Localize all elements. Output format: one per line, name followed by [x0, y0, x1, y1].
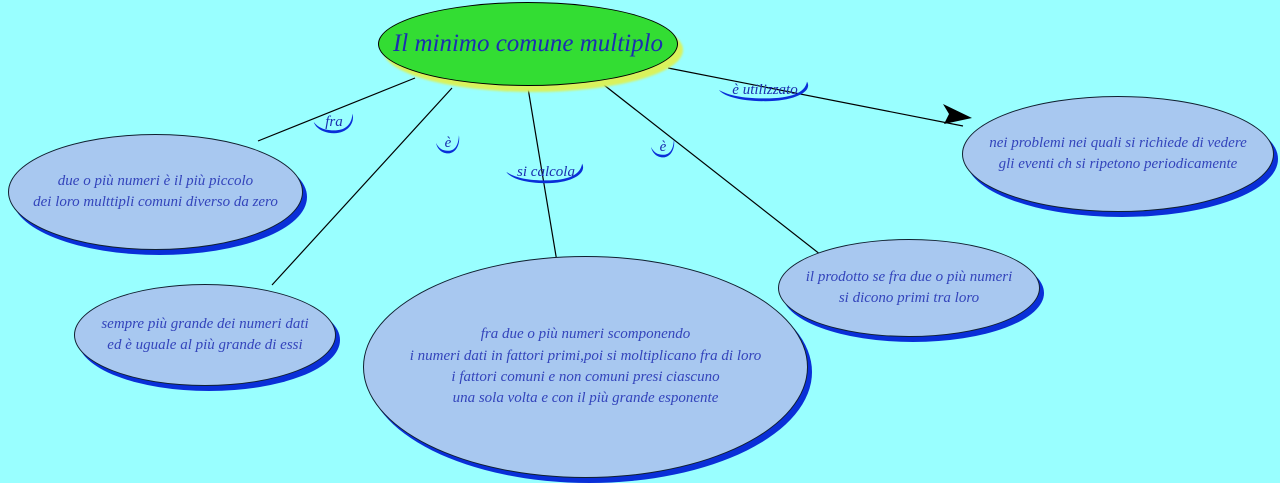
node-prodotto[interactable]: il prodotto se fra due o più numeri si d…	[778, 239, 1040, 337]
node-prodotto-label: il prodotto se fra due o più numeri si d…	[796, 267, 1023, 310]
label-e-2[interactable]: è	[650, 134, 676, 160]
root-to-problemi	[668, 68, 963, 126]
label-fra-text: fra	[325, 114, 343, 131]
label-si-calcola-text: si calcola	[517, 164, 575, 181]
node-calcolo[interactable]: fra due o più numeri scomponendo i numer…	[363, 256, 808, 478]
label-si-calcola[interactable]: si calcola	[503, 158, 589, 186]
node-definizione-label: due o più numeri è il più piccolo dei lo…	[23, 171, 288, 214]
root-to-prodotto	[604, 85, 830, 262]
label-e-1[interactable]: è	[435, 130, 461, 156]
label-fra[interactable]: fra	[312, 108, 356, 136]
root-node[interactable]: Il minimo comune multiplo	[378, 2, 678, 86]
root-node-label: Il minimo comune multiplo	[383, 26, 673, 62]
label-e-utilizzato[interactable]: è utilizzato	[715, 76, 815, 104]
node-calcolo-label: fra due o più numeri scomponendo i numer…	[400, 324, 772, 409]
node-problemi-label: nei problemi nei quali si richiede di ve…	[979, 133, 1257, 176]
node-problemi[interactable]: nei problemi nei quali si richiede di ve…	[962, 96, 1274, 212]
label-e-2-text: è	[660, 139, 667, 156]
node-grandezza-label: sempre più grande dei numeri dati ed è u…	[91, 314, 318, 357]
node-grandezza[interactable]: sempre più grande dei numeri dati ed è u…	[74, 284, 336, 386]
node-definizione[interactable]: due o più numeri è il più piccolo dei lo…	[8, 134, 303, 250]
label-e-1-text: è	[445, 135, 452, 152]
label-e-utilizzato-text: è utilizzato	[732, 82, 797, 99]
mind-map-canvas: Il minimo comune multiplo due o più nume…	[0, 0, 1280, 480]
